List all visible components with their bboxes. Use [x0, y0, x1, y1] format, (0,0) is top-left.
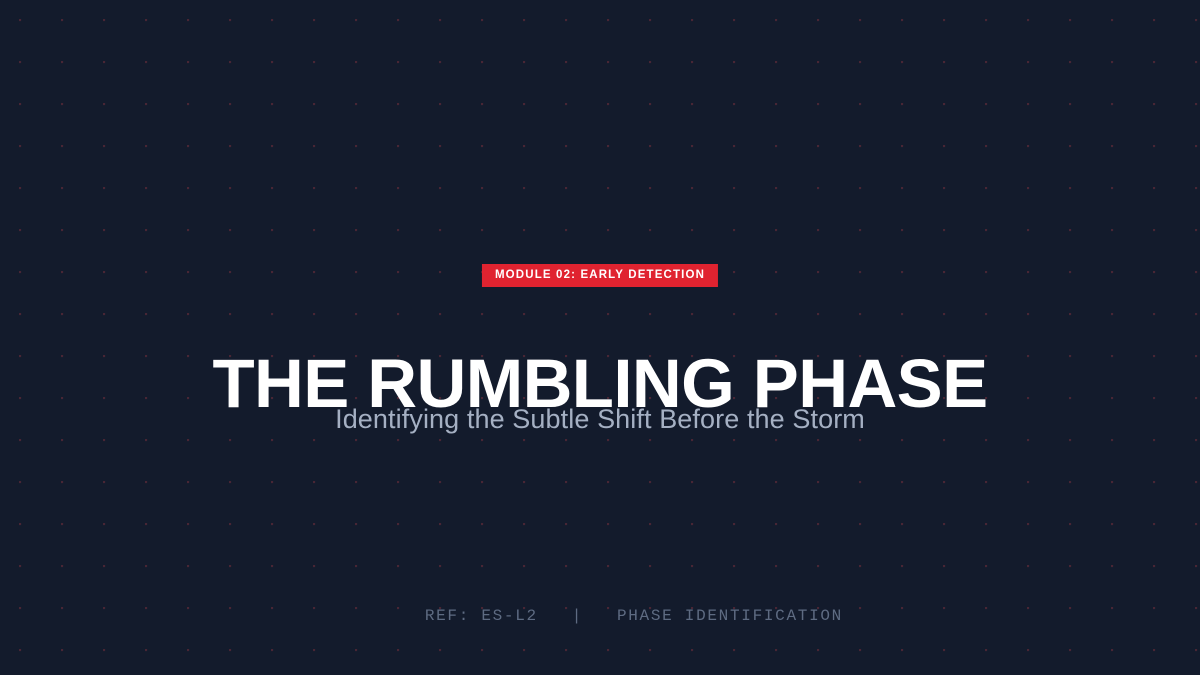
slide-subtitle: Identifying the Subtle Shift Before the …	[0, 402, 1200, 436]
footer-reference: REF: ES-L2	[425, 607, 538, 625]
footer-section: PHASE IDENTIFICATION	[617, 607, 843, 625]
footer-separator: |	[572, 607, 583, 625]
slide-footer: REF: ES-L2 | PHASE IDENTIFICATION	[0, 586, 1200, 646]
slide-content: MODULE 02: EARLY DETECTION THE RUMBLING …	[0, 0, 1200, 675]
module-badge: MODULE 02: EARLY DETECTION	[482, 264, 718, 287]
slide-canvas: MODULE 02: EARLY DETECTION THE RUMBLING …	[0, 0, 1200, 675]
